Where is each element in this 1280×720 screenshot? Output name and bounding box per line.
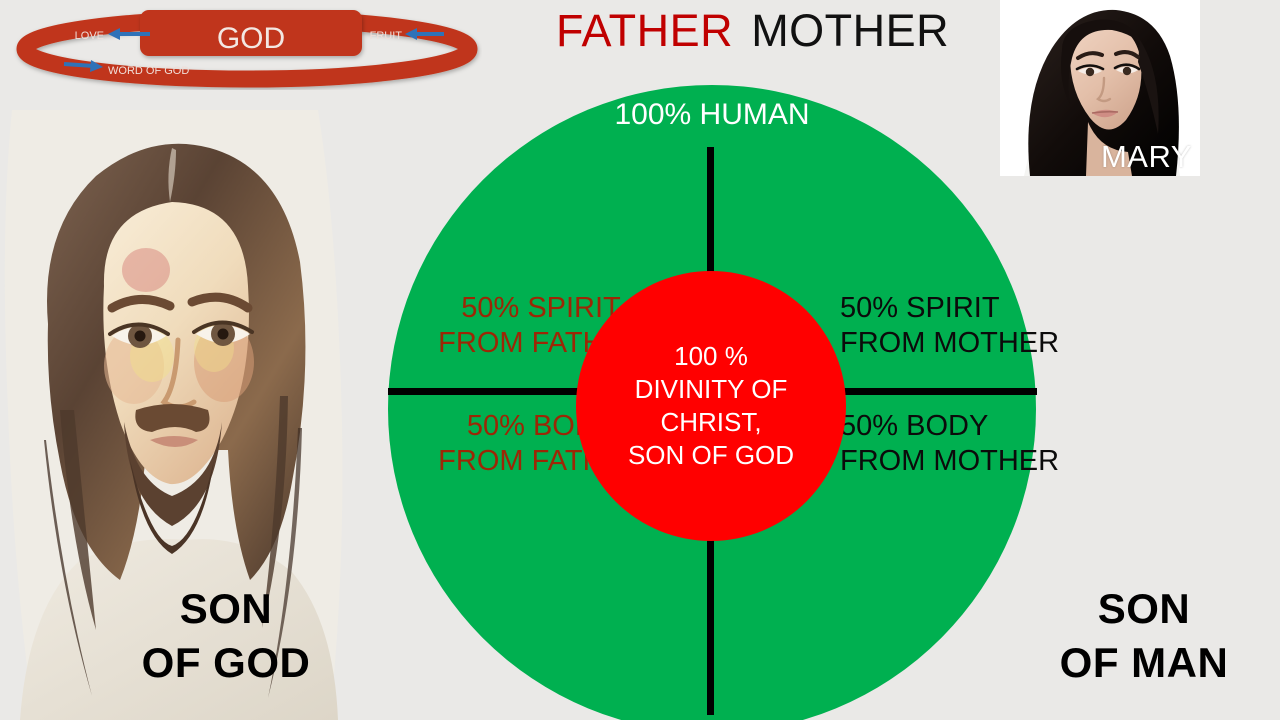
label-body-from-mother: 50% BODY FROM MOTHER (840, 409, 1140, 480)
inner-red-circle: 100 % DIVINITY OF CHRIST, SON OF GOD (576, 271, 846, 541)
love-label: LOVE (75, 30, 104, 42)
god-loop-graphic: GOD LOVE FRUIT WORD OF GOD (12, 4, 482, 90)
fruit-label: FRUIT (370, 30, 403, 42)
title-father: FATHER (556, 5, 733, 56)
god-plate-label: GOD (217, 22, 285, 55)
divinity-diagram: 100% HUMAN 50% SPIRIT FROM FATHER 50% BO… (388, 85, 1038, 720)
label-divinity-of-christ: 100 % DIVINITY OF CHRIST, SON OF GOD (628, 340, 794, 472)
slide-canvas: GOD LOVE FRUIT WORD OF GOD FATHERMOTHER (0, 0, 1280, 720)
word-of-god-label: WORD OF GOD (108, 65, 189, 77)
page-title: FATHERMOTHER (556, 8, 949, 53)
title-mother: MOTHER (751, 5, 949, 56)
label-spirit-from-mother: 50% SPIRIT FROM MOTHER (840, 291, 1140, 362)
label-son-of-man: SON OF MAN (1020, 582, 1268, 690)
label-son-of-god: SON OF GOD (96, 582, 356, 690)
mary-label: MARY (1101, 141, 1192, 172)
label-100-human: 100% HUMAN (388, 97, 1036, 134)
